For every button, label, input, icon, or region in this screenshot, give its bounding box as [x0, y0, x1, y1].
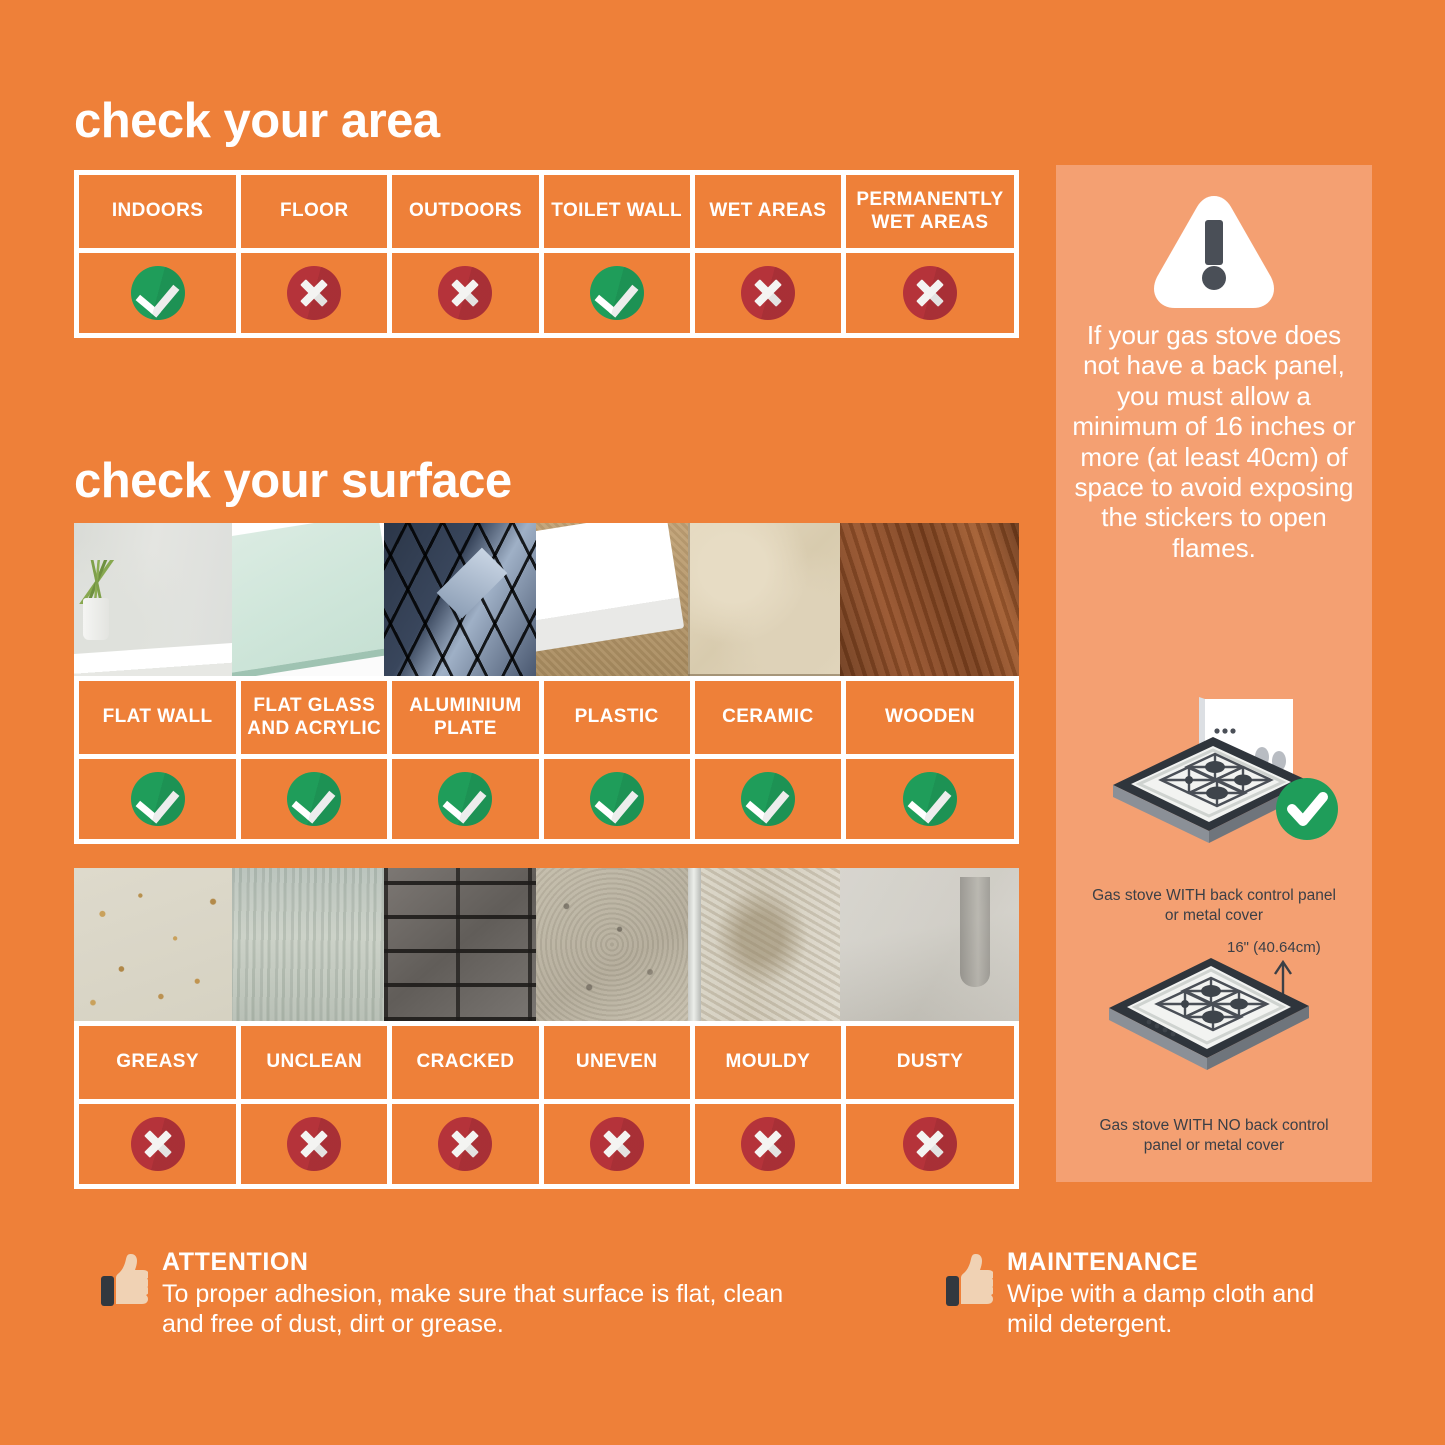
cross-icon — [438, 1117, 492, 1171]
unsuitable-verdict-unclean — [236, 1104, 387, 1184]
maintenance-note-text-block: MAINTENANCE Wipe with a damp cloth and m… — [1007, 1248, 1365, 1339]
suitable-table-verdict-row — [79, 759, 1014, 839]
check-icon — [131, 772, 185, 826]
unsuitable-table-verdict-row — [79, 1104, 1014, 1184]
suitable-verdict-aluminium-plate — [387, 759, 538, 839]
check-icon — [131, 266, 185, 320]
area-header-toilet-wall: TOILET WALL — [539, 175, 690, 248]
suitable-header-flat-wall: FLAT WALL — [79, 681, 236, 754]
window-frame-decor — [688, 868, 701, 1021]
check-icon — [741, 772, 795, 826]
plastic-photo — [536, 523, 688, 676]
suitable-table-header-row: FLAT WALL FLAT GLASS AND ACRYLIC ALUMINI… — [79, 681, 1014, 759]
area-table-header-row: INDOORS FLOOR OUTDOORS TOILET WALL WET A… — [79, 175, 1014, 253]
stove-no-panel-block: 16" (40.64cm) — [1056, 930, 1372, 1156]
suitable-verdict-plastic — [539, 759, 690, 839]
area-header-indoors: INDOORS — [79, 175, 236, 248]
cross-icon — [741, 1117, 795, 1171]
section-heading-surface: check your surface — [74, 453, 512, 509]
attention-note-body: To proper adhesion, make sure that surfa… — [162, 1279, 800, 1339]
unsuitable-header-cracked: CRACKED — [387, 1026, 538, 1099]
area-table-verdict-row — [79, 253, 1014, 333]
unsuitable-header-mouldy: MOULDY — [690, 1026, 841, 1099]
cross-icon — [438, 266, 492, 320]
area-verdict-indoors — [79, 253, 236, 333]
suitable-header-flat-glass: FLAT GLASS AND ACRYLIC — [236, 681, 387, 754]
suitable-surface-photo-strip — [74, 523, 1019, 676]
mouldy-photo — [688, 868, 840, 1021]
check-icon — [438, 772, 492, 826]
sidebar-warning-text: If your gas stove does not have a back p… — [1068, 320, 1360, 563]
unclean-photo — [232, 868, 384, 1021]
dust-smear-decor — [960, 877, 990, 987]
suitable-header-plastic: PLASTIC — [539, 681, 690, 754]
flat-glass-photo — [232, 523, 384, 676]
unsuitable-header-unclean: UNCLEAN — [236, 1026, 387, 1099]
suitable-verdict-ceramic — [690, 759, 841, 839]
area-verdict-floor — [236, 253, 387, 333]
suitable-surface-table: FLAT WALL FLAT GLASS AND ACRYLIC ALUMINI… — [74, 676, 1019, 844]
area-header-permanently-wet-areas: PERMANENTLY WET AREAS — [841, 175, 1014, 248]
unsuitable-verdict-mouldy — [690, 1104, 841, 1184]
area-verdict-outdoors — [387, 253, 538, 333]
cross-icon — [590, 1117, 644, 1171]
stove-with-panel-caption: Gas stove WITH back control panel or met… — [1056, 886, 1372, 926]
area-verdict-wet-areas — [690, 253, 841, 333]
maintenance-note: MAINTENANCE Wipe with a damp cloth and m… — [945, 1248, 1365, 1339]
aluminium-plate-photo — [384, 523, 536, 676]
attention-note: ATTENTION To proper adhesion, make sure … — [100, 1248, 800, 1339]
unsuitable-header-dusty: DUSTY — [841, 1026, 1014, 1099]
unsuitable-verdict-uneven — [539, 1104, 690, 1184]
maintenance-note-body: Wipe with a damp cloth and mild detergen… — [1007, 1279, 1365, 1339]
wooden-photo — [840, 523, 1019, 676]
aluminium-highlight-decor — [437, 547, 508, 618]
suitable-verdict-flat-glass — [236, 759, 387, 839]
unsuitable-header-greasy: GREASY — [79, 1026, 236, 1099]
suitable-verdict-flat-wall — [79, 759, 236, 839]
attention-note-text-block: ATTENTION To proper adhesion, make sure … — [162, 1248, 800, 1339]
suitable-header-wooden: WOODEN — [841, 681, 1014, 754]
cross-icon — [903, 1117, 957, 1171]
unsuitable-header-uneven: UNEVEN — [539, 1026, 690, 1099]
plant-pot-decor — [83, 598, 109, 640]
warning-sidebar: If your gas stove does not have a back p… — [1056, 165, 1372, 1182]
area-header-outdoors: OUTDOORS — [387, 175, 538, 248]
greasy-photo — [74, 868, 232, 1021]
cross-icon — [741, 266, 795, 320]
thumbs-up-icon — [945, 1254, 993, 1308]
check-icon — [287, 772, 341, 826]
thumbs-up-icon — [100, 1254, 148, 1308]
warning-triangle-icon — [1150, 190, 1278, 310]
section-heading-area: check your area — [74, 93, 440, 149]
check-icon — [590, 266, 644, 320]
cross-icon — [287, 266, 341, 320]
stove-with-panel-block: Gas stove WITH back control panel or met… — [1056, 685, 1372, 926]
flat-wall-photo — [74, 523, 232, 676]
area-verdict-toilet-wall — [539, 253, 690, 333]
cracked-photo — [384, 868, 536, 1021]
suitable-header-ceramic: CERAMIC — [690, 681, 841, 754]
shelf-decor — [74, 642, 232, 676]
uneven-photo — [536, 868, 688, 1021]
suitable-verdict-wooden — [841, 759, 1014, 839]
check-icon — [590, 772, 644, 826]
dusty-photo — [840, 868, 1019, 1021]
ceramic-photo — [688, 523, 840, 676]
dimension-label-text: 16" (40.64cm) — [1227, 939, 1321, 956]
suitable-header-aluminium-plate: ALUMINIUM PLATE — [387, 681, 538, 754]
unsuitable-surface-photo-strip — [74, 868, 1019, 1021]
unsuitable-table-header-row: GREASY UNCLEAN CRACKED UNEVEN MOULDY DUS… — [79, 1026, 1014, 1104]
stove-no-panel-caption: Gas stove WITH NO back control panel or … — [1056, 1116, 1372, 1156]
unsuitable-verdict-dusty — [841, 1104, 1014, 1184]
cross-icon — [131, 1117, 185, 1171]
unsuitable-verdict-greasy — [79, 1104, 236, 1184]
area-header-floor: FLOOR — [236, 175, 387, 248]
check-icon — [903, 772, 957, 826]
cross-icon — [287, 1117, 341, 1171]
glass-pane-decor — [232, 523, 384, 676]
cross-icon — [903, 266, 957, 320]
area-header-wet-areas: WET AREAS — [690, 175, 841, 248]
unsuitable-verdict-cracked — [387, 1104, 538, 1184]
gas-stove-with-back-panel-illustration — [1069, 685, 1359, 875]
maintenance-note-title: MAINTENANCE — [1007, 1248, 1365, 1277]
attention-note-title: ATTENTION — [162, 1248, 800, 1277]
unsuitable-surface-table: GREASY UNCLEAN CRACKED UNEVEN MOULDY DUS… — [74, 1021, 1019, 1189]
area-table: INDOORS FLOOR OUTDOORS TOILET WALL WET A… — [74, 170, 1019, 338]
gas-stove-no-back-panel-illustration: 16" (40.64cm) — [1069, 930, 1359, 1105]
area-verdict-permanently-wet-areas — [841, 253, 1014, 333]
infographic-page: check your area INDOORS FLOOR OUTDOORS T… — [0, 0, 1445, 1445]
